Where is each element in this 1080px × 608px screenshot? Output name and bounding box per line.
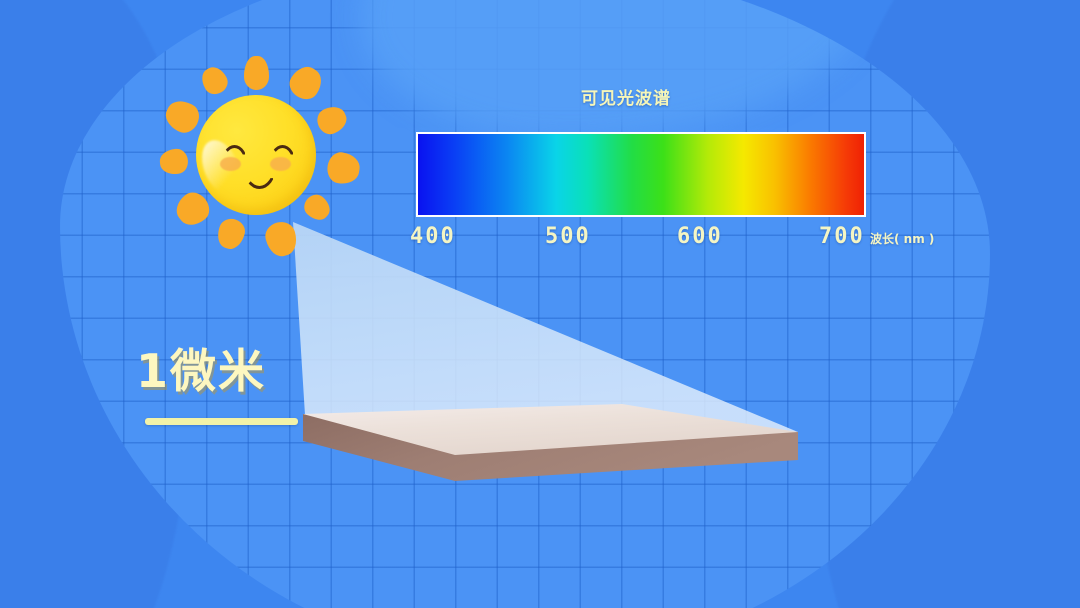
sun-ray-icon <box>284 61 327 104</box>
sun-ray-icon <box>197 63 231 98</box>
sun-ray-icon <box>299 190 334 224</box>
spectrum-tick-700: 700 <box>819 224 865 249</box>
spectrum-tick-500: 500 <box>545 224 591 249</box>
sun-ray-icon <box>325 150 361 186</box>
scale-caption-text: 1微米 <box>136 348 266 394</box>
sun-face <box>196 95 316 215</box>
spectrum-gradient-bar <box>416 132 866 217</box>
spectrum-axis-ticks: 400 500 600 700 波长( nm ) <box>405 224 885 254</box>
illustration-canvas: 可见光波谱 400 500 600 700 波长( nm ) 1微米 <box>0 0 1080 608</box>
sun-ray-icon <box>313 102 350 138</box>
sun-eye-right-icon <box>269 145 296 165</box>
spectrum-tick-400: 400 <box>410 224 456 249</box>
scale-caption-underline <box>145 418 298 425</box>
sun-ray-icon <box>170 187 214 231</box>
spectrum-unit-label: 波长( nm ) <box>870 230 934 247</box>
scale-caption: 1微米 <box>136 348 266 394</box>
sun-ray-icon <box>214 216 248 253</box>
sun-ray-icon <box>158 148 188 176</box>
smiling-sun <box>152 52 360 260</box>
sun-smile-icon <box>243 167 276 189</box>
spectrum-title: 可见光波谱 <box>581 84 885 109</box>
sun-ray-icon <box>160 96 203 138</box>
spectrum-panel: 可见光波谱 400 500 600 700 波长( nm ) <box>405 84 885 109</box>
sun-ray-icon <box>262 219 300 260</box>
sun-ray-icon <box>244 56 269 90</box>
spectrum-tick-600: 600 <box>677 224 723 249</box>
